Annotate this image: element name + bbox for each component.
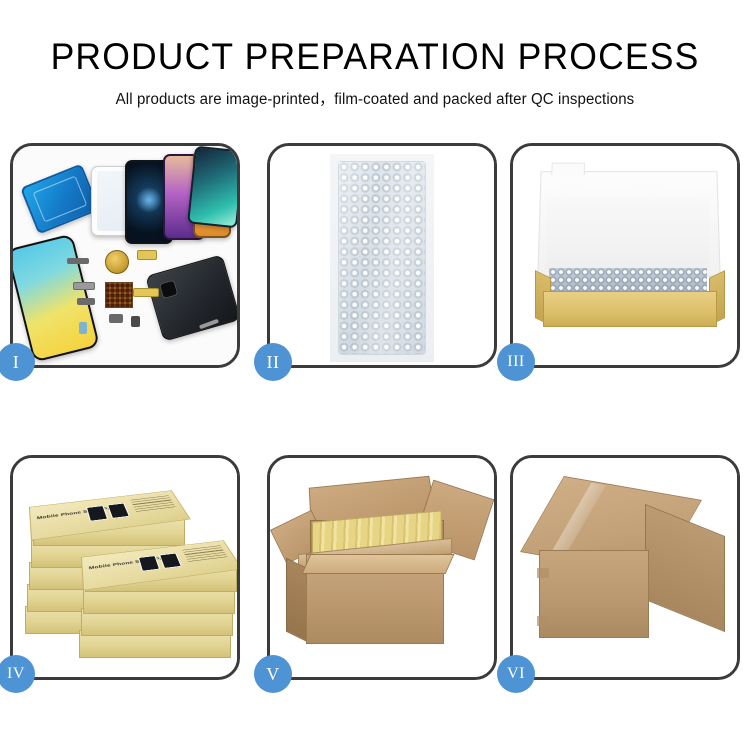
- inner-box-interior: [547, 198, 709, 272]
- box-stack: Mobile Phone Spare Parts Mobile Phone Sp…: [21, 480, 233, 666]
- battery-part: [79, 322, 87, 334]
- step-badge-4: IV: [0, 655, 35, 693]
- step-image-3: [513, 146, 737, 365]
- step-panel-4: Mobile Phone Spare Parts Mobile Phone Sp…: [10, 455, 240, 680]
- chip-part-2: [77, 298, 95, 305]
- chip-part-3: [109, 314, 123, 323]
- step-badge-1: I: [0, 343, 35, 381]
- sealed-carton-right-side: [645, 504, 725, 632]
- sealed-carton-front: [539, 550, 649, 638]
- step-panel-6: VI: [510, 455, 740, 680]
- flex-cable-2: [133, 288, 159, 297]
- carton-handle-hole-bottom: [537, 616, 549, 626]
- carton-flap-front: [302, 554, 455, 574]
- step-image-6: [513, 458, 737, 677]
- product-preparation-infographic: PRODUCT PREPARATION PROCESS All products…: [0, 0, 750, 750]
- page-title: PRODUCT PREPARATION PROCESS: [15, 0, 735, 78]
- speaker-coil-part: [105, 250, 129, 274]
- step-image-2: [270, 146, 494, 365]
- step-panel-3: III: [510, 143, 740, 368]
- connector-grid-part: [105, 282, 133, 308]
- box-label-screen-image: [107, 503, 130, 519]
- phone-screen-blue: [20, 163, 100, 234]
- box-label-spec-lines: [182, 545, 231, 567]
- step-image-5: [270, 458, 494, 677]
- step-badge-2: II: [254, 343, 292, 381]
- carton-handle-hole-top: [537, 568, 549, 578]
- bubble-wrap-sheet: [339, 162, 425, 354]
- flex-cable-3: [73, 282, 95, 290]
- step-badge-3: III: [497, 343, 535, 381]
- step-badge-6: VI: [497, 655, 535, 693]
- step-panel-5: V: [267, 455, 497, 680]
- flex-cable-1: [137, 250, 157, 260]
- step-panel-2: II: [267, 143, 497, 368]
- chip-part-1: [67, 258, 89, 264]
- inner-box-front: [543, 291, 717, 327]
- box-label-screen-image: [159, 553, 182, 569]
- step-image-1: [13, 146, 237, 365]
- page-subtitle: All products are image-printed，film-coat…: [11, 78, 739, 110]
- step-badge-5: V: [254, 655, 292, 693]
- box-label-spec-lines: [130, 495, 179, 517]
- phone-screen-teal: [187, 146, 237, 228]
- steps-grid: I II III: [0, 143, 750, 683]
- step-image-4: Mobile Phone Spare Parts Mobile Phone Sp…: [13, 458, 237, 677]
- header: PRODUCT PREPARATION PROCESS All products…: [0, 0, 750, 110]
- chip-part-4: [131, 316, 140, 327]
- phone-backplate: [145, 254, 237, 341]
- step-panel-1: I: [10, 143, 240, 368]
